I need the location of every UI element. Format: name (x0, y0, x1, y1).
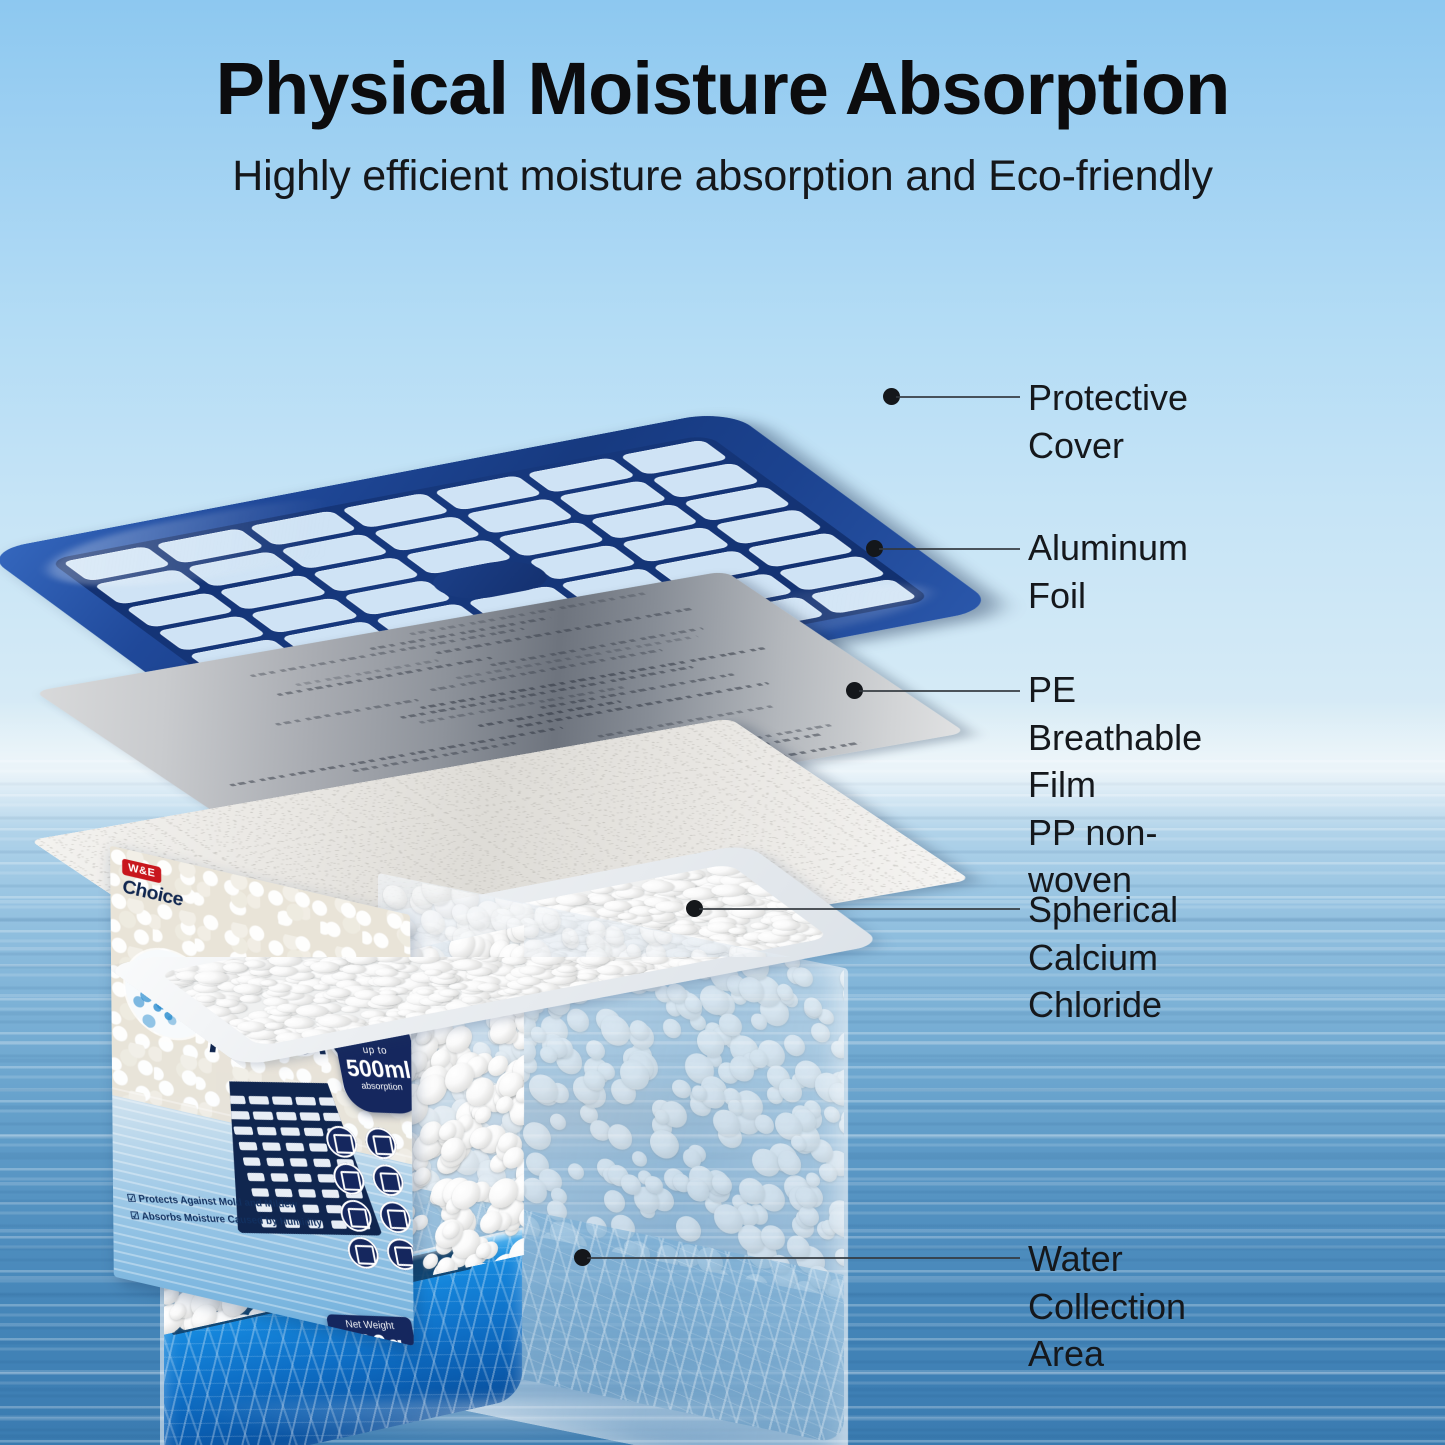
calcium-chloride-bead (650, 891, 678, 901)
label-grid-bar (242, 1157, 261, 1166)
calcium-chloride-bead (632, 1150, 647, 1168)
calcium-chloride-bead (603, 879, 636, 891)
label-grid-bar (304, 1128, 324, 1137)
calcium-chloride-bead (648, 902, 676, 913)
calcium-chloride-bead (802, 936, 829, 946)
leader-line-calcium-chloride (699, 908, 1020, 910)
calcium-chloride-bead (604, 1189, 626, 1215)
label-grid-bar (238, 1142, 257, 1151)
storage-icon (345, 1236, 382, 1269)
calcium-chloride-bead (655, 875, 700, 892)
calcium-chloride-bead (657, 867, 695, 881)
calcium-chloride-bead (757, 916, 783, 926)
calcium-chloride-bead (716, 864, 757, 876)
label-grid-bar (289, 1158, 308, 1167)
calcium-chloride-bead (798, 940, 829, 957)
suitcase-icon (376, 1201, 413, 1234)
calcium-chloride-bead (636, 878, 680, 894)
calcium-chloride-bead (622, 899, 649, 909)
calcium-chloride-bead (649, 869, 694, 886)
label-grid-bar (247, 1173, 265, 1182)
calcium-chloride-bead (797, 933, 829, 946)
calcium-chloride-bead (763, 940, 788, 949)
calcium-chloride-bead (693, 887, 718, 896)
calcium-chloride-bead (672, 1078, 690, 1100)
calcium-chloride-bead (762, 899, 799, 913)
product-label-card: W&E Choice Fragrance Free MOISTURE ABSOR… (110, 846, 414, 1346)
calcium-chloride-bead (773, 938, 803, 949)
calcium-chloride-bead (587, 896, 617, 907)
label-grid-bar (308, 1143, 327, 1152)
calcium-chloride-bead (737, 897, 760, 906)
calcium-chloride-bead (786, 908, 829, 925)
calcium-chloride-bead (785, 935, 815, 946)
calcium-chloride-bead (567, 1007, 589, 1034)
calcium-chloride-bead (649, 878, 685, 891)
calcium-chloride-bead (795, 941, 822, 951)
label-grid-bar (248, 1096, 269, 1105)
calcium-chloride-bead (767, 925, 800, 937)
calcium-chloride-bead (755, 932, 783, 943)
calcium-chloride-bead (732, 884, 762, 895)
calcium-chloride-bead (709, 887, 751, 903)
calcium-chloride-bead (671, 919, 697, 929)
calcium-chloride-bead (615, 912, 639, 921)
leader-line-pe-film (859, 690, 1020, 692)
calcium-chloride-bead (475, 1106, 491, 1125)
calcium-chloride-bead (634, 905, 677, 921)
calcium-chloride-bead (578, 898, 600, 906)
calcium-chloride-bead (722, 871, 745, 880)
calcium-chloride-bead (755, 1113, 774, 1135)
calcium-chloride-bead (677, 885, 721, 902)
calcium-chloride-bead (724, 903, 768, 919)
calcium-chloride-bead (748, 874, 790, 890)
calcium-chloride-bead (663, 870, 705, 886)
calcium-chloride-bead (783, 927, 818, 940)
label-grid-bar (253, 1111, 274, 1120)
calcium-chloride-bead (762, 910, 790, 921)
calcium-chloride-bead (740, 898, 779, 913)
calcium-chloride-bead (715, 864, 757, 874)
calcium-chloride-bead (747, 932, 778, 944)
label-grid-bar (280, 1127, 300, 1136)
callout-label-calcium-chloride: Spherical Calcium Chloride (1028, 886, 1178, 1029)
calcium-chloride-bead (632, 893, 654, 901)
calcium-chloride-bead (672, 922, 705, 934)
calcium-chloride-bead (626, 893, 667, 908)
calcium-chloride-bead (727, 928, 749, 936)
calcium-chloride-bead (772, 940, 795, 948)
calcium-chloride-bead (616, 901, 639, 910)
calcium-chloride-bead (724, 875, 754, 886)
calcium-chloride-bead (775, 936, 819, 952)
calcium-chloride-bead (798, 927, 825, 937)
calcium-chloride-bead (768, 884, 809, 899)
label-grid-bar (294, 1174, 312, 1183)
header-block: Physical Moisture Absorption Highly effi… (0, 52, 1445, 201)
aluminum-foil-layer (120, 452, 910, 622)
calcium-chloride-bead (806, 933, 830, 944)
calcium-chloride-bead (702, 917, 747, 934)
calcium-chloride-bead (636, 901, 664, 912)
calcium-chloride-bead (710, 930, 741, 942)
label-grid-bar (261, 1142, 280, 1151)
calcium-chloride-bead (702, 920, 742, 935)
calcium-chloride-bead (773, 925, 806, 937)
calcium-chloride-bead (732, 864, 768, 870)
calcium-chloride-bead (608, 1122, 633, 1152)
calcium-chloride-bead (619, 885, 648, 896)
calcium-chloride-bead (784, 933, 810, 943)
calcium-chloride-bead (726, 887, 751, 896)
calcium-chloride-bead (814, 924, 829, 940)
calcium-chloride-bead (661, 878, 701, 893)
calcium-chloride-bead (698, 893, 737, 908)
page-subtitle: Highly efficient moisture absorption and… (0, 152, 1445, 201)
calcium-chloride-bead (693, 924, 735, 940)
calcium-chloride-bead (624, 904, 661, 918)
bathroom-icon (331, 1162, 368, 1195)
label-grid-bar (295, 1097, 316, 1106)
calcium-chloride-bead (650, 896, 686, 910)
calcium-chloride-bead (523, 1119, 550, 1152)
calcium-chloride-bead (796, 937, 829, 952)
calcium-chloride-bead (626, 907, 649, 916)
calcium-chloride-bead (757, 909, 801, 925)
calcium-chloride-bead (792, 898, 829, 913)
calcium-chloride-bead (664, 874, 708, 890)
calcium-chloride-bead (653, 893, 678, 902)
label-grid-bar (229, 1111, 250, 1120)
calcium-chloride-bead (682, 872, 705, 881)
calcium-chloride-bead (829, 1081, 844, 1108)
calcium-chloride-bead (639, 895, 675, 909)
bookshelf-icon (362, 1127, 399, 1160)
calcium-chloride-bead (480, 1209, 502, 1236)
capacity-suffix: absorption (360, 1081, 403, 1092)
calcium-chloride-bead (621, 900, 647, 910)
container-reflection (180, 1400, 800, 1445)
calcium-chloride-bead (654, 876, 689, 889)
calcium-chloride-bead (795, 942, 828, 955)
calcium-chloride-bead (807, 931, 829, 940)
calcium-chloride-bead (670, 887, 708, 901)
calcium-chloride-bead (809, 923, 829, 939)
calcium-chloride-bead (529, 1071, 558, 1106)
calcium-chloride-bead (642, 878, 672, 889)
calcium-chloride-bead (768, 918, 805, 932)
calcium-chloride-bead (727, 866, 764, 880)
calcium-chloride-bead (705, 924, 745, 939)
calcium-chloride-bead (624, 887, 660, 900)
calcium-chloride-bead (831, 1039, 844, 1060)
calcium-chloride-bead (717, 892, 759, 908)
callout-label-protective-cover: Protective Cover (1028, 374, 1188, 469)
calcium-chloride-bead (635, 903, 658, 911)
calcium-chloride-bead (813, 936, 829, 949)
calcium-chloride-bead (747, 921, 771, 930)
calcium-chloride-bead (550, 892, 593, 908)
calcium-chloride-bead (748, 928, 781, 940)
calcium-chloride-bead (667, 867, 710, 883)
calcium-chloride-bead (712, 878, 746, 891)
capacity-amount: 500ml (344, 1056, 413, 1083)
calcium-chloride-bead (658, 900, 687, 911)
calcium-chloride-bead (784, 893, 810, 903)
calcium-chloride-bead (550, 1112, 567, 1132)
calcium-chloride-bead (730, 896, 759, 907)
calcium-chloride-bead (767, 914, 800, 926)
calcium-chloride-bead (663, 1017, 681, 1039)
calcium-chloride-bead (641, 891, 677, 904)
calcium-chloride-bead (744, 898, 766, 906)
calcium-chloride-bead (586, 883, 617, 895)
callout-label-aluminum-foil: Aluminum Foil (1028, 524, 1188, 619)
calcium-chloride-bead (599, 899, 636, 913)
calcium-chloride-bead (707, 880, 745, 894)
label-grid-bar (299, 1112, 320, 1121)
calcium-chloride-bead (585, 893, 618, 905)
boat-icon (384, 1238, 414, 1271)
calcium-chloride-bead (704, 915, 741, 929)
calcium-chloride-bead (632, 904, 660, 915)
label-grid-bar (266, 1158, 285, 1167)
calcium-chloride-bead (714, 931, 740, 941)
calcium-chloride-bead (687, 888, 710, 897)
shoe-icon (338, 1199, 375, 1232)
calcium-chloride-bead (820, 921, 829, 933)
car-icon (369, 1164, 406, 1197)
label-grid-bar (313, 1159, 332, 1168)
calcium-chloride-bead (724, 923, 749, 932)
calcium-chloride-bead (639, 908, 680, 923)
calcium-chloride-bead (797, 942, 829, 954)
leader-line-aluminum-foil (879, 548, 1020, 550)
calcium-chloride-bead (601, 1013, 630, 1048)
calcium-chloride-bead (726, 926, 750, 935)
calcium-chloride-bead (719, 914, 753, 927)
calcium-chloride-bead (796, 935, 822, 945)
callout-label-water-collection: Water Collection Area (1028, 1235, 1186, 1378)
calcium-chloride-bead (650, 914, 680, 925)
container-layer: W&E Choice Fragrance Free MOISTURE ABSOR… (120, 775, 920, 1415)
calcium-chloride-bead (804, 928, 829, 945)
calcium-chloride-bead (761, 912, 804, 928)
calcium-chloride-bead (607, 889, 640, 901)
calcium-chloride-bead (650, 883, 689, 898)
calcium-chloride-bead (725, 904, 770, 921)
calcium-chloride-bead (383, 883, 407, 911)
label-grid-bar (270, 1173, 288, 1182)
calcium-chloride-bead (694, 880, 736, 896)
calcium-chloride-bead (676, 1214, 701, 1244)
calcium-chloride-bead (824, 1105, 841, 1125)
calcium-chloride-bead (814, 914, 829, 926)
calcium-chloride-bead (540, 890, 577, 904)
calcium-chloride-bead (762, 892, 788, 902)
calcium-chloride-bead (752, 929, 796, 945)
label-grid-bar (272, 1096, 293, 1105)
calcium-chloride-bead (638, 894, 674, 907)
calcium-chloride-bead (759, 914, 798, 928)
calcium-chloride-bead (646, 907, 668, 915)
calcium-chloride-bead (583, 891, 614, 903)
label-grid-bar (276, 1112, 297, 1121)
label-grid-bar (257, 1127, 277, 1136)
calcium-chloride-bead (706, 882, 751, 899)
wardrobe-icon (323, 1125, 360, 1158)
pe-breathable-film-layer (115, 600, 905, 780)
calcium-chloride-bead (722, 864, 766, 874)
leader-line-water-collection (587, 1257, 1020, 1259)
calcium-chloride-bead (755, 873, 787, 885)
label-grid-bar (285, 1143, 304, 1152)
calcium-chloride-bead (712, 908, 755, 924)
calcium-chloride-bead (752, 897, 782, 908)
calcium-chloride-bead (767, 893, 795, 904)
label-feature-list: ☑ Protects Against Mold and Mildew ☑ Abs… (126, 1190, 324, 1232)
calcium-chloride-bead (778, 1149, 801, 1177)
calcium-chloride-bead (664, 879, 698, 892)
calcium-chloride-bead (650, 1127, 679, 1161)
calcium-chloride-bead (584, 894, 620, 908)
calcium-chloride-bead (766, 930, 807, 945)
calcium-chloride-bead (686, 875, 721, 888)
calcium-chloride-bead (739, 931, 771, 943)
infographic-scene: Physical Moisture Absorption Highly effi… (0, 0, 1445, 1445)
calcium-chloride-bead (703, 873, 738, 886)
calcium-chloride-bead (784, 1033, 805, 1058)
calcium-chloride-bead (650, 899, 689, 914)
calcium-chloride-bead (735, 881, 762, 891)
calcium-chloride-bead (693, 884, 735, 900)
calcium-chloride-bead (633, 911, 665, 923)
calcium-chloride-bead (672, 880, 700, 890)
calcium-chloride-bead (568, 1161, 584, 1180)
calcium-chloride-bead (820, 925, 829, 938)
calcium-chloride-bead (714, 867, 740, 877)
calcium-chloride-bead (613, 909, 643, 920)
calcium-chloride-bead (658, 876, 688, 887)
label-grid-bar (234, 1126, 254, 1135)
calcium-chloride-bead (742, 882, 784, 898)
calcium-chloride-bead (768, 888, 794, 898)
calcium-chloride-bead (776, 921, 814, 935)
calcium-chloride-bead (782, 904, 815, 916)
calcium-chloride-bead (839, 1117, 844, 1137)
calcium-chloride-bead (611, 886, 649, 900)
calcium-chloride-bead (731, 880, 773, 896)
calcium-chloride-bead (721, 867, 755, 880)
calcium-chloride-bead (729, 864, 774, 874)
calcium-chloride-bead (715, 873, 757, 889)
calcium-chloride-bead (683, 884, 719, 897)
callout-label-pe-film: PE Breathable Film PP non-woven (1028, 666, 1202, 904)
leader-line-protective-cover (896, 396, 1020, 398)
calcium-chloride-bead (679, 869, 716, 883)
calcium-chloride-bead (553, 891, 597, 907)
calcium-chloride-bead (677, 879, 710, 891)
calcium-chloride-bead (693, 884, 722, 895)
calcium-chloride-bead (793, 966, 812, 989)
calcium-chloride-bead (701, 864, 747, 878)
calcium-chloride-bead (718, 871, 762, 887)
page-title: Physical Moisture Absorption (0, 52, 1445, 126)
calcium-chloride-bead (719, 892, 755, 905)
